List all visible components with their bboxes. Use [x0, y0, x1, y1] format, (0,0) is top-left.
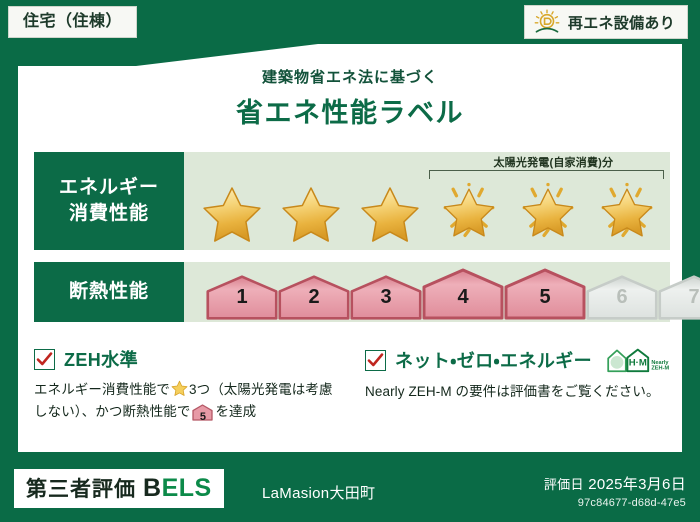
ratings-section: エネルギー 消費性能 太陽光発電(自家消費)分 断熱性能 1234567: [34, 152, 670, 322]
note-nze-title: ネット・ゼロ・エネルギー: [395, 347, 592, 373]
star-solar: [587, 173, 666, 247]
mini-house-number: 5: [192, 409, 213, 427]
insulation-level-6: 6: [586, 264, 658, 320]
star-filled: [271, 173, 350, 247]
insulation-performance-row: 断熱性能 1234567: [34, 262, 670, 322]
note-zeh-standard: ZEH水準 エネルギー消費性能で 3つ（太陽光発電は考慮しない）、かつ断熱性能で…: [34, 346, 339, 428]
notes-section: ZEH水準 エネルギー消費性能で 3つ（太陽光発電は考慮しない）、かつ断熱性能で…: [34, 346, 670, 428]
mini-house-badge: 5: [192, 404, 213, 428]
energy-performance-label: 住宅（住棟） 再エネ設備あり 建築物省エネ法に基づく 省エネ性能ラベル: [0, 0, 700, 522]
note-nze-body: Nearly ZEH-M の要件は評価書をご覧ください。: [365, 381, 670, 403]
bels-badge: 第三者評価 BELS: [14, 469, 224, 508]
renewable-energy-badge: 再エネ設備あり: [524, 5, 688, 39]
star-icon: [351, 173, 429, 245]
star-icon: [436, 173, 502, 245]
note-nze-header: ネット・ゼロ・エネルギー H·M Nearly ZEH-M: [365, 346, 670, 374]
energy-stars-body: 太陽光発電(自家消費)分: [184, 152, 670, 250]
house-icon: [658, 275, 700, 320]
note-zeh-header: ZEH水準: [34, 346, 339, 372]
star-filled: [192, 173, 271, 247]
insulation-level-strip: 1234567: [206, 264, 648, 320]
evaluation-id: 97c84677-d68d-47e5: [544, 497, 686, 509]
housing-type-tab: 住宅（住棟）: [8, 6, 137, 38]
star-icon: [515, 173, 581, 245]
building-name: LaMasion大田町: [262, 482, 375, 503]
note-net-zero-energy: ネット・ゼロ・エネルギー H·M Nearly ZEH-M Nearly ZEH…: [365, 346, 670, 428]
star-filled: [350, 173, 429, 247]
star-solar: [508, 173, 587, 247]
note-zeh-body: エネルギー消費性能で 3つ（太陽光発電は考慮しない）、かつ断熱性能で 5 を達成: [34, 379, 339, 428]
energy-label-line2: 消費性能: [69, 201, 149, 227]
zeh-m-logo-icon: H·M Nearly ZEH-M: [605, 346, 669, 374]
insulation-level-5: 5: [504, 264, 586, 320]
check-icon: [367, 352, 384, 369]
footer-meta: 評価日 2025年3月6日 97c84677-d68d-47e5: [544, 473, 686, 509]
star-icon: [193, 173, 271, 245]
title-subtitle: 建築物省エネ法に基づく: [0, 66, 700, 87]
house-icon: [504, 268, 586, 320]
sun-renewable-icon: [533, 9, 561, 35]
zeh-standard-checkbox[interactable]: [34, 349, 55, 370]
bels-logo-b: B: [143, 474, 162, 502]
note-zeh-text-pre: エネルギー消費性能で: [34, 382, 170, 397]
svg-text:H·M: H·M: [629, 358, 647, 369]
energy-performance-label: エネルギー 消費性能: [34, 152, 184, 250]
insulation-performance-label: 断熱性能: [34, 262, 184, 322]
note-zeh-text-post: を達成: [215, 404, 256, 419]
page-title-block: 建築物省エネ法に基づく 省エネ性能ラベル: [0, 66, 700, 130]
mini-star-icon: [171, 380, 188, 397]
bels-jp-label: 第三者評価: [26, 473, 136, 503]
page-title: 省エネ性能ラベル: [0, 91, 700, 130]
evaluation-date-label: 評価日: [544, 477, 584, 492]
star-rating-strip: [192, 173, 666, 247]
evaluation-date-value: 2025年3月6日: [588, 476, 686, 493]
energy-performance-row: エネルギー 消費性能 太陽光発電(自家消費)分: [34, 152, 670, 250]
insulation-levels-body: 1234567: [184, 262, 670, 322]
insulation-level-7: 7: [658, 264, 700, 320]
insulation-label-text: 断熱性能: [69, 279, 149, 305]
house-icon: [586, 275, 658, 320]
note-zeh-title: ZEH水準: [64, 346, 138, 372]
insulation-level-3: 3: [350, 264, 422, 320]
star-icon: [594, 173, 660, 245]
energy-label-line1: エネルギー: [59, 175, 159, 201]
bels-logo-els: ELS: [162, 474, 212, 502]
solar-bracket-label: 太陽光発電(自家消費)分: [437, 154, 670, 170]
house-icon: [206, 275, 278, 320]
housing-type-label: 住宅（住棟）: [23, 13, 122, 30]
footer: 第三者評価 BELS LaMasion大田町 評価日 2025年3月6日 97c…: [0, 452, 700, 522]
check-icon: [36, 351, 53, 368]
svg-text:ZEH-M: ZEH-M: [651, 366, 669, 372]
house-icon: [278, 275, 350, 320]
house-icon: [422, 268, 504, 320]
insulation-level-2: 2: [278, 264, 350, 320]
star-icon: [272, 173, 350, 245]
house-icon: [350, 275, 422, 320]
star-solar: [429, 173, 508, 247]
insulation-level-4: 4: [422, 264, 504, 320]
renewable-badge-label: 再エネ設備あり: [568, 12, 675, 33]
bels-logo-text: BELS: [143, 474, 212, 503]
insulation-level-1: 1: [206, 264, 278, 320]
evaluation-date: 評価日 2025年3月6日: [544, 473, 686, 494]
net-zero-energy-checkbox[interactable]: [365, 350, 386, 371]
